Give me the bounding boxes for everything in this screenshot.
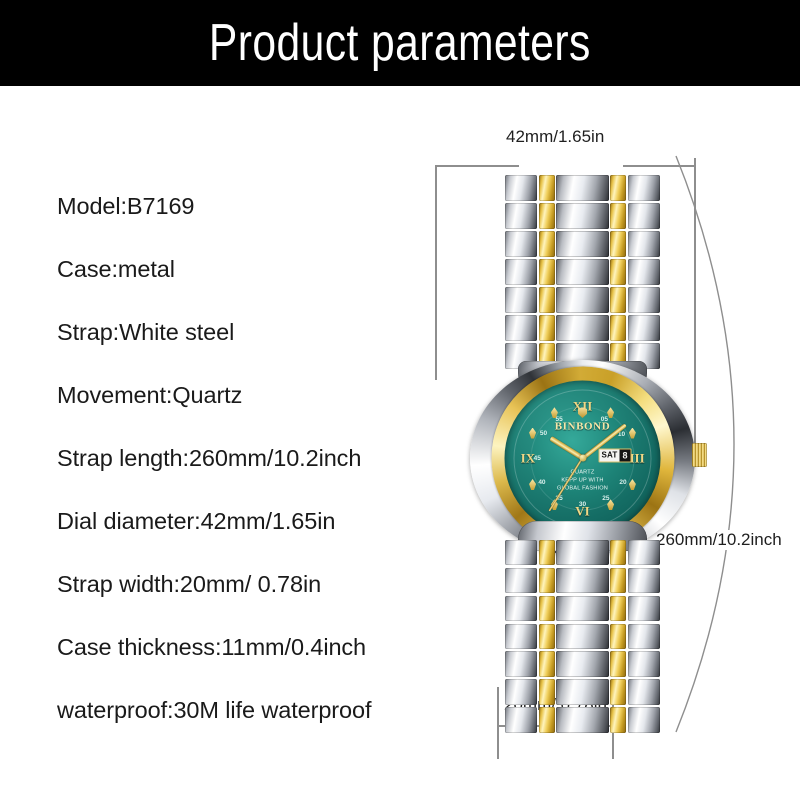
bracelet-link-silver xyxy=(505,315,537,341)
bracelet-link-gold xyxy=(539,287,555,313)
minute-number: 30 xyxy=(579,501,586,508)
bracelet-link-silver xyxy=(628,679,660,704)
bracelet-link-gold xyxy=(539,259,555,285)
minute-number: 40 xyxy=(538,479,545,486)
bracelet-link-silver xyxy=(505,596,537,621)
watch-product-image: XII III VI IX 60 05 10 20 25 30 35 40 45… xyxy=(460,175,705,735)
bracelet-link-gold xyxy=(610,315,626,341)
bracelet-link-row xyxy=(505,596,660,621)
bracelet-link-silver xyxy=(628,540,660,565)
bracelet-link-silver xyxy=(505,679,537,704)
bracelet-link-gold xyxy=(610,175,626,201)
watch-crown xyxy=(692,443,707,467)
bracelet-link-silver xyxy=(505,540,537,565)
bracelet-link-center xyxy=(556,679,609,704)
bracelet-link-gold xyxy=(539,175,555,201)
bracelet-link-row xyxy=(505,707,660,732)
bracelet-link-gold xyxy=(610,707,626,732)
spec-row-strap-length: Strap length:260mm/10.2inch xyxy=(57,427,477,490)
dimension-tick-top-left xyxy=(435,165,437,380)
watch-dimension-figure: 42mm/1.65in 20mm/ 0.78in 260mm/10.2inch xyxy=(430,120,800,760)
bracelet-link-gold xyxy=(539,540,555,565)
specification-list: Model:B7169 Case:metal Strap:White steel… xyxy=(57,175,477,742)
bracelet-link-silver xyxy=(505,175,537,201)
bracelet-upper xyxy=(505,175,660,371)
spec-row-waterproof: waterproof:30M life waterproof xyxy=(57,679,477,742)
watch-dial: XII III VI IX 60 05 10 20 25 30 35 40 45… xyxy=(505,380,661,536)
bracelet-link-row xyxy=(505,259,660,285)
bracelet-link-gold xyxy=(539,624,555,649)
bracelet-link-gold xyxy=(610,259,626,285)
date-display: 8 xyxy=(620,449,631,461)
bracelet-link-center xyxy=(556,540,609,565)
bracelet-link-center xyxy=(556,231,609,257)
bracelet-link-gold xyxy=(610,679,626,704)
bracelet-link-silver xyxy=(628,707,660,732)
bracelet-link-row xyxy=(505,651,660,676)
bracelet-link-silver xyxy=(505,707,537,732)
bracelet-link-silver xyxy=(628,568,660,593)
bracelet-link-center xyxy=(556,175,609,201)
bracelet-link-row xyxy=(505,315,660,341)
bracelet-link-center xyxy=(556,707,609,732)
bracelet-link-silver xyxy=(505,651,537,676)
bracelet-link-silver xyxy=(628,624,660,649)
bracelet-link-silver xyxy=(628,651,660,676)
bracelet-link-gold xyxy=(610,596,626,621)
bracelet-link-center xyxy=(556,259,609,285)
minute-number: 25 xyxy=(602,495,609,502)
bracelet-link-silver xyxy=(628,596,660,621)
day-date-window: SAT 8 xyxy=(599,448,632,462)
hands-center-cap xyxy=(579,455,586,462)
dimension-label-dial-diameter: 42mm/1.65in xyxy=(502,127,608,147)
brand-name: BINBOND xyxy=(555,420,611,432)
bracelet-link-gold xyxy=(610,287,626,313)
bracelet-link-silver xyxy=(628,231,660,257)
hour-numeral-iii: III xyxy=(630,450,645,466)
bracelet-link-center xyxy=(556,287,609,313)
bracelet-link-gold xyxy=(539,568,555,593)
bracelet-link-silver xyxy=(505,231,537,257)
bracelet-link-gold xyxy=(539,651,555,676)
bracelet-link-row xyxy=(505,568,660,593)
bracelet-link-silver xyxy=(628,315,660,341)
spec-row-dial-diameter: Dial diameter:42mm/1.65in xyxy=(57,490,477,553)
bracelet-link-gold xyxy=(539,679,555,704)
bracelet-link-silver xyxy=(628,175,660,201)
bracelet-link-gold xyxy=(610,624,626,649)
bracelet-link-gold xyxy=(610,231,626,257)
bracelet-link-gold xyxy=(610,540,626,565)
spec-row-case: Case:metal xyxy=(57,238,477,301)
bracelet-link-row xyxy=(505,203,660,229)
bracelet-link-row xyxy=(505,231,660,257)
bracelet-link-gold xyxy=(539,203,555,229)
bracelet-link-center xyxy=(556,596,609,621)
bracelet-link-center xyxy=(556,203,609,229)
minute-number: 20 xyxy=(619,479,626,486)
spec-row-strap: Strap:White steel xyxy=(57,301,477,364)
bracelet-link-silver xyxy=(628,203,660,229)
dimension-line-top-left xyxy=(435,165,519,167)
bracelet-link-gold xyxy=(539,315,555,341)
spec-row-strap-width: Strap width:20mm/ 0.78in xyxy=(57,553,477,616)
bracelet-link-gold xyxy=(610,203,626,229)
bracelet-link-center xyxy=(556,315,609,341)
dial-tagline: QUARTZ KEPP UP WITH GLOBAL FASHION xyxy=(557,468,608,493)
day-display: SAT xyxy=(600,449,620,461)
bracelet-link-silver xyxy=(628,259,660,285)
bracelet-lower xyxy=(505,540,660,735)
minute-number: 10 xyxy=(618,431,625,438)
bracelet-link-row xyxy=(505,679,660,704)
bracelet-link-row xyxy=(505,175,660,201)
bracelet-link-silver xyxy=(505,203,537,229)
bracelet-link-gold xyxy=(539,231,555,257)
minute-number: 45 xyxy=(534,455,541,462)
bracelet-link-silver xyxy=(505,259,537,285)
bracelet-link-row xyxy=(505,287,660,313)
bracelet-link-gold xyxy=(539,707,555,732)
spec-row-model: Model:B7169 xyxy=(57,175,477,238)
bracelet-link-silver xyxy=(505,287,537,313)
bracelet-link-gold xyxy=(610,651,626,676)
spec-row-movement: Movement:Quartz xyxy=(57,364,477,427)
bracelet-link-center xyxy=(556,624,609,649)
bracelet-link-silver xyxy=(505,568,537,593)
bracelet-link-silver xyxy=(505,624,537,649)
bracelet-link-row xyxy=(505,624,660,649)
header-banner: Product parameters xyxy=(0,0,800,86)
bracelet-link-silver xyxy=(628,287,660,313)
minute-number: 50 xyxy=(540,430,547,437)
bracelet-link-center xyxy=(556,651,609,676)
page-title: Product parameters xyxy=(209,13,591,73)
bracelet-link-center xyxy=(556,568,609,593)
bracelet-link-row xyxy=(505,540,660,565)
bracelet-link-gold xyxy=(539,596,555,621)
bracelet-link-gold xyxy=(610,568,626,593)
dial-tagline-line1: QUARTZ xyxy=(557,468,608,476)
spec-row-case-thickness: Case thickness:11mm/0.4inch xyxy=(57,616,477,679)
